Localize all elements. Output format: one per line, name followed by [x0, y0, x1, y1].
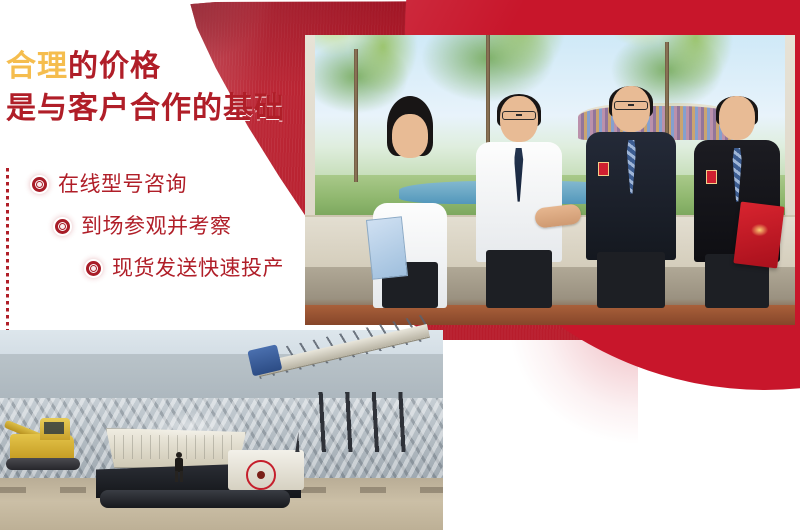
- person-man-navy-suit: [579, 70, 683, 308]
- list-item-label: 在线型号咨询: [58, 174, 187, 195]
- list-item[interactable]: 在线型号咨询: [0, 163, 310, 205]
- trousers: [597, 252, 665, 308]
- crusher-logo-icon: [246, 460, 276, 490]
- crusher-tracks: [100, 490, 290, 508]
- person-man-black-suit: [687, 76, 787, 308]
- list-item-label: 到场参观并考察: [81, 216, 232, 237]
- list-item[interactable]: 到场参观并考察: [0, 205, 310, 247]
- glasses-icon: [502, 111, 536, 120]
- team-handshake-photo: [305, 35, 795, 325]
- promo-banner: 合理的价格 是与客户合作的基础 在线型号咨询 到场参观并考察 现货发送快速投产: [0, 0, 800, 530]
- glasses-icon: [614, 101, 648, 110]
- trousers: [486, 250, 552, 308]
- name-badge: [598, 162, 609, 176]
- bullet-dot-icon: [86, 261, 101, 276]
- face: [392, 114, 428, 158]
- headline-line-2: 是与客户合作的基础: [4, 88, 304, 130]
- site-worker: [174, 452, 183, 482]
- bullet-dot-icon: [55, 219, 70, 234]
- necktie: [514, 148, 523, 202]
- name-badge: [706, 170, 717, 184]
- necktie: [627, 140, 636, 194]
- blue-folder: [366, 216, 408, 279]
- headline-line-1: 合理的价格: [4, 46, 304, 88]
- photo-desk-edge: [305, 305, 795, 325]
- dress-shirt: [476, 142, 562, 262]
- person-woman: [364, 93, 456, 308]
- list-item[interactable]: 现货发送快速投产: [0, 247, 310, 289]
- excavator: [2, 414, 98, 470]
- suit-jacket: [586, 132, 676, 260]
- painting-tree: [352, 49, 360, 182]
- excavator-track: [6, 458, 80, 470]
- red-certificate-folder: [734, 201, 785, 268]
- list-item-label: 现货发送快速投产: [112, 258, 284, 279]
- headline-rest: 的价格: [68, 49, 161, 84]
- conveyor-support-frame: [295, 392, 415, 452]
- face: [719, 96, 755, 140]
- excavator-cab: [40, 418, 70, 440]
- headline-highlight: 合理: [6, 49, 68, 84]
- necktie: [733, 148, 742, 202]
- headline-block: 合理的价格 是与客户合作的基础: [4, 46, 304, 130]
- mobile-crusher-machine: [96, 424, 316, 520]
- person-man-white-shirt: [467, 76, 571, 308]
- feature-bullet-list: 在线型号咨询 到场参观并考察 现货发送快速投产: [0, 163, 310, 289]
- bullet-dot-icon: [32, 177, 47, 192]
